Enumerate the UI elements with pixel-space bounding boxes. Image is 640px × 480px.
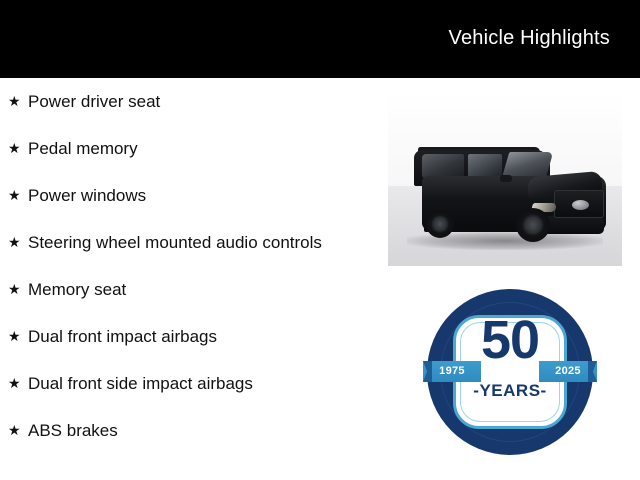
list-item: ★ Dual front side impact airbags <box>0 372 370 395</box>
star-icon: ★ <box>8 137 28 160</box>
star-icon: ★ <box>8 90 28 113</box>
ribbon-tail <box>423 361 432 382</box>
list-item: ★ Dual front impact airbags <box>0 325 370 348</box>
star-icon: ★ <box>8 184 28 207</box>
feature-label: Memory seat <box>28 278 370 301</box>
feature-label: Steering wheel mounted audio controls <box>28 231 370 254</box>
feature-label: Power driver seat <box>28 90 370 113</box>
list-item: ★ Power windows <box>0 184 370 207</box>
list-item: ★ Power driver seat <box>0 90 370 113</box>
suv-rear-wheel <box>426 210 454 238</box>
star-icon: ★ <box>8 278 28 301</box>
feature-label: Pedal memory <box>28 137 370 160</box>
vehicle-photo <box>388 92 622 266</box>
header-bar: Vehicle Highlights <box>0 0 640 78</box>
vehicle-highlights-slide: Vehicle Highlights ★ Power driver seat ★… <box>0 0 640 480</box>
badge-end-year-ribbon: 2025 <box>539 361 597 382</box>
list-item: ★ Steering wheel mounted audio controls <box>0 231 370 254</box>
star-icon: ★ <box>8 372 28 395</box>
page-title: Vehicle Highlights <box>449 27 610 50</box>
ribbon-tail <box>588 361 597 382</box>
suv-front-wheel <box>516 208 550 242</box>
vehicle-features-list: ★ Power driver seat ★ Pedal memory ★ Pow… <box>0 90 370 466</box>
anniversary-badge: 50 -YEARS- 1975 2025 <box>427 289 593 455</box>
badge-end-year: 2025 <box>555 365 581 377</box>
badge-years-label: -YEARS- <box>427 381 593 401</box>
ford-oval-emblem-icon <box>572 200 589 210</box>
suv-rear-window <box>422 154 464 178</box>
suv-mirror <box>500 175 512 182</box>
star-icon: ★ <box>8 325 28 348</box>
feature-label: Dual front side impact airbags <box>28 372 370 395</box>
badge-start-year-ribbon: 1975 <box>423 361 481 382</box>
star-icon: ★ <box>8 231 28 254</box>
badge-start-year: 1975 <box>439 365 465 377</box>
suv-illustration <box>404 136 606 244</box>
suv-side-window <box>468 154 502 178</box>
feature-label: ABS brakes <box>28 419 370 442</box>
star-icon: ★ <box>8 419 28 442</box>
list-item: ★ Memory seat <box>0 278 370 301</box>
feature-label: Dual front impact airbags <box>28 325 370 348</box>
list-item: ★ ABS brakes <box>0 419 370 442</box>
list-item: ★ Pedal memory <box>0 137 370 160</box>
feature-label: Power windows <box>28 184 370 207</box>
